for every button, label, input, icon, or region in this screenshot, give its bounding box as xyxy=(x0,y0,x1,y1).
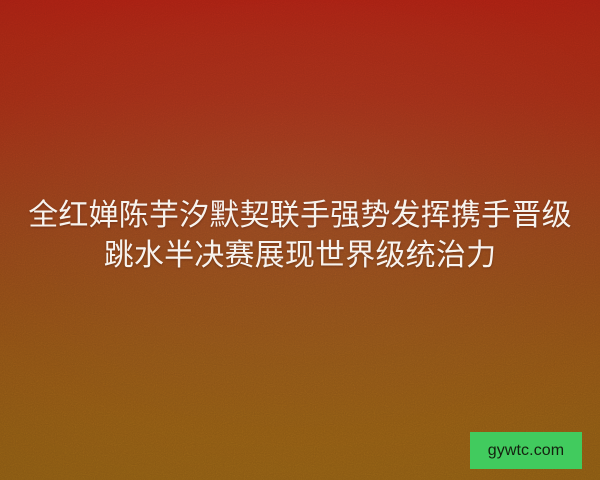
headline-line-2: 跳水半决赛展现世界级统治力 xyxy=(0,236,600,276)
watermark-badge[interactable]: gywtc.com xyxy=(470,432,582,469)
poster-canvas: 全红婵陈芋汐默契联手强势发挥携手晋级 跳水半决赛展现世界级统治力 gywtc.c… xyxy=(0,0,600,480)
headline-line-1: 全红婵陈芋汐默契联手强势发挥携手晋级 xyxy=(0,196,600,236)
watermark-label: gywtc.com xyxy=(488,443,564,459)
headline-text: 全红婵陈芋汐默契联手强势发挥携手晋级 跳水半决赛展现世界级统治力 xyxy=(0,196,600,276)
